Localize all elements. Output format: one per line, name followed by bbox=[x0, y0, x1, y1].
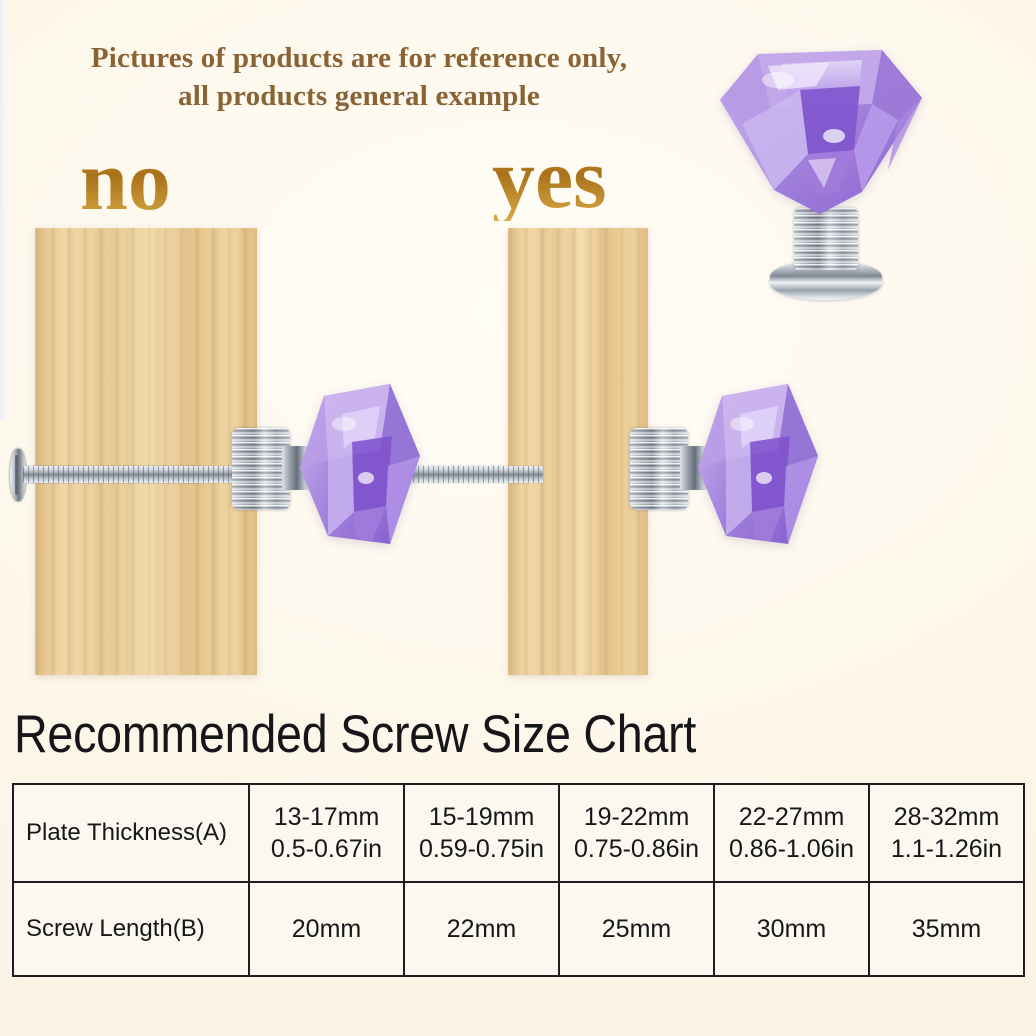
hero-crystal-knob bbox=[712, 42, 928, 300]
table-cell-thickness-2: 15-19mm 0.59-0.75in bbox=[404, 784, 559, 882]
caption-line-2: all products general example bbox=[0, 78, 718, 116]
crystal-gem-no bbox=[294, 380, 424, 560]
verdict-no-label: no bbox=[80, 137, 171, 223]
row-label-plate-thickness: Plate Thickness(A) bbox=[13, 784, 249, 882]
value-in: 0.75-0.86in bbox=[562, 833, 711, 866]
reference-caption: Pictures of products are for reference o… bbox=[0, 40, 718, 115]
value-mm: 19-22mm bbox=[562, 801, 711, 834]
chrome-collar bbox=[794, 208, 858, 270]
crystal-gem-yes bbox=[692, 380, 822, 560]
hero-crystal-gem bbox=[712, 42, 928, 217]
table-cell-length-1: 20mm bbox=[249, 882, 404, 976]
value-in: 0.86-1.06in bbox=[717, 833, 866, 866]
value-mm: 13-17mm bbox=[252, 801, 401, 834]
caption-line-1: Pictures of products are for reference o… bbox=[91, 42, 627, 74]
table-cell-length-2: 22mm bbox=[404, 882, 559, 976]
chart-title: Recommended Screw Size Chart bbox=[14, 704, 696, 765]
table-cell-thickness-1: 13-17mm 0.5-0.67in bbox=[249, 784, 404, 882]
knob-assembly-yes bbox=[630, 380, 820, 560]
value-mm: 15-19mm bbox=[407, 801, 556, 834]
table-cell-thickness-4: 22-27mm 0.86-1.06in bbox=[714, 784, 869, 882]
table-row-screw-length: Screw Length(B) 20mm 22mm 25mm 30mm 35mm bbox=[13, 882, 1024, 976]
wood-board-left bbox=[35, 228, 257, 675]
table-cell-length-4: 30mm bbox=[714, 882, 869, 976]
value-mm: 28-32mm bbox=[872, 801, 1021, 834]
value-mm: 22-27mm bbox=[717, 801, 866, 834]
verdict-yes-label: yes bbox=[492, 135, 607, 221]
table-row-plate-thickness: Plate Thickness(A) 13-17mm 0.5-0.67in 15… bbox=[13, 784, 1024, 882]
table-cell-thickness-3: 19-22mm 0.75-0.86in bbox=[559, 784, 714, 882]
product-infographic: Pictures of products are for reference o… bbox=[0, 0, 1036, 1036]
table-cell-length-3: 25mm bbox=[559, 882, 714, 976]
screw-size-table: Plate Thickness(A) 13-17mm 0.5-0.67in 15… bbox=[12, 783, 1025, 977]
value-in: 0.5-0.67in bbox=[252, 833, 401, 866]
knob-assembly-no bbox=[232, 380, 422, 560]
table-cell-length-5: 35mm bbox=[869, 882, 1024, 976]
row-label-screw-length: Screw Length(B) bbox=[13, 882, 249, 976]
value-in: 0.59-0.75in bbox=[407, 833, 556, 866]
table-cell-thickness-5: 28-32mm 1.1-1.26in bbox=[869, 784, 1024, 882]
value-in: 1.1-1.26in bbox=[872, 833, 1021, 866]
wood-board-right bbox=[508, 228, 648, 675]
